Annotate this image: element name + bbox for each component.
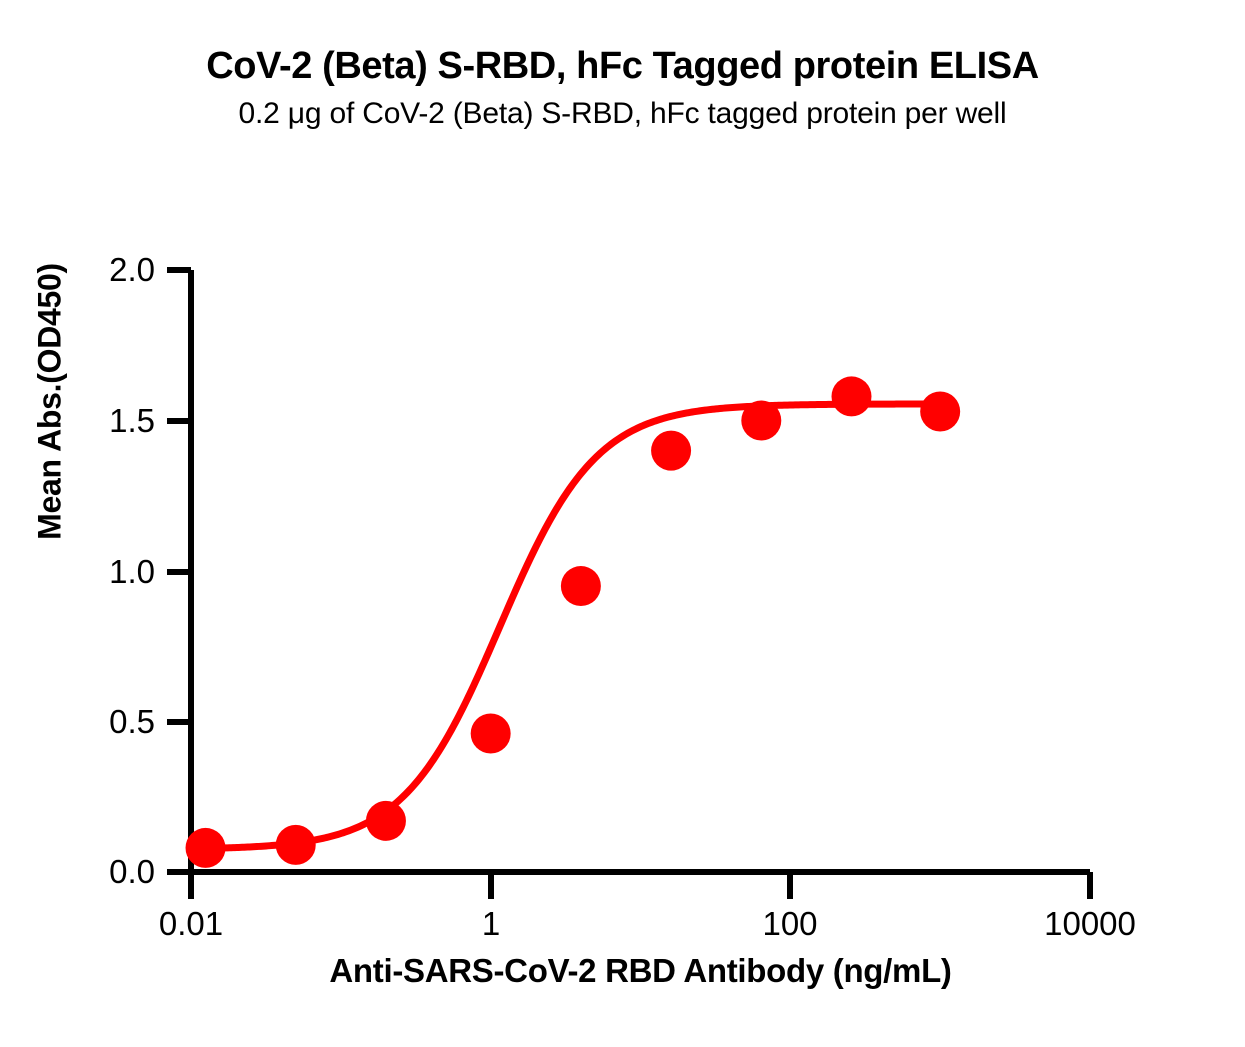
y-axis-title: Mean Abs.(OD450) [32,182,69,622]
data-point [651,431,691,471]
y-tick-label-0: 0.0 [60,853,155,891]
axis-group [167,270,1090,899]
y-axis-ticks [167,270,191,872]
x-axis-title: Anti-SARS-CoV-2 RBD Antibody (ng/mL) [191,952,1090,990]
y-tick-label-0-5: 0.5 [60,703,155,741]
x-tick-label-10000: 10000 [1044,905,1136,943]
x-tick-label-0-01: 0.01 [159,905,223,943]
data-point [832,376,872,416]
chart-canvas [0,0,1245,1047]
data-point [741,401,781,441]
x-tick-label-1: 1 [482,905,500,943]
data-point [471,714,511,754]
plot-area: 2.0 1.5 1.0 0.5 0.0 0.01 1 100 10000 Mea… [0,0,1245,1047]
y-tick-label-1: 1.0 [60,553,155,591]
data-series-group [186,376,961,867]
data-point [561,566,601,606]
x-axis-ticks [191,872,1090,899]
y-tick-label-1-5: 1.5 [60,402,155,440]
y-tick-label-2: 2.0 [60,251,155,289]
x-tick-label-100: 100 [762,905,817,943]
data-point [276,825,316,865]
data-point [366,801,406,841]
data-point-markers [186,376,961,867]
elisa-figure: CoV-2 (Beta) S-RBD, hFc Tagged protein E… [0,0,1245,1047]
data-point [920,391,960,431]
data-point [186,828,226,868]
fit-curve [206,404,941,848]
